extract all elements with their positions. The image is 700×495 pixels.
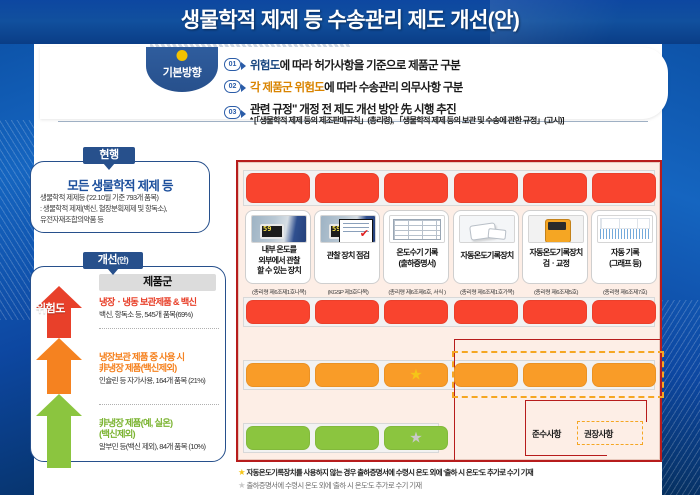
improvement-tag-label: 개선 xyxy=(98,254,117,266)
footnote-1: ★ 자동온도기록장치를 사용하지 않는 경우 출하증명서에 수령시 온도 외에 … xyxy=(238,467,533,478)
product-divider-2 xyxy=(99,404,219,405)
right-band-stripes xyxy=(662,300,700,495)
fridge-display-icon xyxy=(251,215,307,243)
device-card-4-ref: (총리령 제6조제1호가목) xyxy=(451,287,523,296)
matrix-cell-orange-4[interactable] xyxy=(454,363,518,387)
matrix-cell-green-3[interactable]: ★ xyxy=(384,426,448,450)
device-card-2-label: 관찰 장치 점검 xyxy=(317,251,379,262)
header: 생물학적 제제 등 수송관리 제도 개선(안) xyxy=(0,0,700,46)
matrix-cell-orange-2[interactable] xyxy=(315,363,379,387)
improvement-tag-sublabel: (안) xyxy=(117,256,128,265)
star-marker-gray: ★ xyxy=(409,431,422,446)
matrix-cell-red2-2[interactable] xyxy=(315,300,379,324)
bullet-highlight-02: 각 제품군 위험도 xyxy=(250,82,324,94)
device-card-1-line1: 내부 온도를 xyxy=(248,245,310,256)
device-card-5-line2: 검ㆍ교정 xyxy=(525,259,587,270)
matrix-cell-red2-5[interactable] xyxy=(523,300,587,324)
device-card-6-ref: (총리령 제6조제7호) xyxy=(589,287,661,296)
matrix-cell-green-2[interactable] xyxy=(315,426,379,450)
product-row-1-title: 냉장ㆍ냉동 보관제품 & 백신 xyxy=(99,297,196,308)
star-marker-gold: ★ xyxy=(409,368,422,383)
matrix-cell-red2-6[interactable] xyxy=(592,300,656,324)
matrix-cell-red-3[interactable] xyxy=(384,173,448,203)
inspection-doc-icon: ✔ xyxy=(320,215,376,243)
current-state-title: 모든 생물학적 제제 등 xyxy=(31,175,209,194)
legend-label-compliance: 준수사항 xyxy=(532,428,561,440)
product-row-2-title-line1: 냉장보관 제품 중 사용 시 xyxy=(99,352,184,363)
current-state-desc-1: 생물학적 제제등 ('22.10월 기준 793개 품목) xyxy=(40,193,200,204)
bullet-number-01: 01 xyxy=(224,58,241,71)
product-row-3-title-line1: 非냉장 제품(예, 실온) xyxy=(99,418,172,429)
current-state-box: 모든 생물학적 제제 등 생물학적 제제등 ('22.10월 기준 793개 품… xyxy=(30,161,210,233)
device-card-3-line1: 온도수기 기록 xyxy=(386,248,448,259)
matrix-cell-orange-3[interactable]: ★ xyxy=(384,363,448,387)
graph-chart-icon xyxy=(597,215,653,243)
device-card-1-line3: 할 수 있는 장치 xyxy=(248,266,310,277)
matrix-cell-red-2[interactable] xyxy=(315,173,379,203)
device-card-6-line1: 자동 기록 xyxy=(594,248,656,259)
risk-arrow-mid xyxy=(36,338,82,394)
footnote-2-text: 출하증명서에 수령시 온도 외에 '출하 시 온도'도 추가로 수기 기재 xyxy=(246,481,421,490)
risk-axis-label: 위험도 xyxy=(36,300,65,316)
device-card-6-line2: (그래프 등) xyxy=(594,259,656,270)
matrix-cell-red2-3[interactable] xyxy=(384,300,448,324)
bullet-subnote-03: * [「생물학적 제제 등의 제조판매규칙」(총리령), 「생물학적 제제 등의… xyxy=(250,114,564,126)
legend-label-recommended: 권장사항 xyxy=(584,428,613,440)
device-card-1[interactable]: 내부 온도를 외부에서 관찰 할 수 있는 장치 (총리령 제6조제1호나목) xyxy=(245,210,311,284)
device-card-2[interactable]: ✔ 관찰 장치 점검 (KGSP 제3호다목) xyxy=(314,210,380,284)
matrix-cell-red2-1[interactable] xyxy=(246,300,310,324)
device-card-4-line1: 자동온도기록장치 xyxy=(456,251,518,262)
left-band-stripes xyxy=(0,120,34,320)
matrix-cell-green-1[interactable] xyxy=(246,426,310,450)
matrix-cell-red-6[interactable] xyxy=(592,173,656,203)
footnote-2-star-icon: ★ xyxy=(238,480,245,490)
matrix-cell-orange-5[interactable] xyxy=(523,363,587,387)
device-card-1-ref: (총리령 제6조제1호나목) xyxy=(243,287,315,296)
device-card-3[interactable]: 온도수기 기록 (출하증명서) (총리령 제6조제6호, 서식 ) xyxy=(383,210,449,284)
footnote-2: ★ 출하증명서에 수령시 온도 외에 '출하 시 온도'도 추가로 수기 기재 xyxy=(238,480,422,491)
matrix-cell-red-1[interactable] xyxy=(246,173,310,203)
left-blue-band xyxy=(0,0,34,495)
device-card-4[interactable]: 자동온도기록장치 (총리령 제6조제1호가목) xyxy=(453,210,519,284)
device-card-3-label: 온도수기 기록 (출하증명서) xyxy=(386,248,448,269)
product-row-1-desc: 백신, 항독소 등, 545개 품목(69%) xyxy=(99,310,221,320)
device-card-2-ref: (KGSP 제3호다목) xyxy=(312,287,384,296)
footnote-1-text: 자동온도기록장치를 사용하지 않는 경우 출하증명서에 수령시 온도 외에 '출… xyxy=(246,468,533,477)
legend-compliance-top xyxy=(525,400,647,422)
bullet-highlight-01: 위험도 xyxy=(250,60,280,72)
basic-direction-label: 기본방향 xyxy=(146,64,218,80)
matrix-cell-red2-4[interactable] xyxy=(454,300,518,324)
data-logger-icon xyxy=(459,215,515,243)
check-dot-icon xyxy=(177,50,188,61)
calibration-meter-icon xyxy=(528,215,584,243)
matrix-cell-red-5[interactable] xyxy=(523,173,587,203)
bullet-rest-01: 에 따라 허가사항을 기준으로 제품군 구분 xyxy=(280,60,460,72)
bullet-text-01: 위험도에 따라 허가사항을 기준으로 제품군 구분 xyxy=(250,57,460,73)
device-card-3-ref: (총리령 제6조제6호, 서식 ) xyxy=(381,287,453,296)
form-sheet-icon xyxy=(389,215,445,243)
device-card-5-ref: (총리령 제6조제5호) xyxy=(520,287,592,296)
device-card-2-line1: 관찰 장치 점검 xyxy=(317,251,379,262)
product-row-3-desc: 알부민 등(백신 제외), 84개 품목 (10%) xyxy=(99,442,221,452)
device-card-5-label: 자동온도기록장치 검ㆍ교정 xyxy=(525,248,587,269)
bullet-number-02: 02 xyxy=(224,80,241,93)
current-state-desc-2: : 생물학적 제제(백신, 혈장분획제제 및 항독소), xyxy=(40,204,200,215)
product-row-3-title-line2: (백신제외) xyxy=(99,429,135,440)
bullet-rest-02: 에 따라 수송관리 의무사항 구분 xyxy=(324,82,462,94)
bullet-number-03: 03 xyxy=(224,106,241,119)
matrix-cell-orange-6[interactable] xyxy=(592,363,656,387)
current-state-tag: 현행 xyxy=(83,147,135,164)
current-state-tag-label: 현행 xyxy=(99,149,118,161)
device-card-5-line1: 자동온도기록장치 xyxy=(525,248,587,259)
device-card-6-label: 자동 기록 (그래프 등) xyxy=(594,248,656,269)
matrix-cell-orange-1[interactable] xyxy=(246,363,310,387)
product-divider-1 xyxy=(99,328,219,329)
matrix-cell-red-4[interactable] xyxy=(454,173,518,203)
current-state-desc-3: 유전자재조합의약품 등 xyxy=(40,215,200,226)
device-card-4-label: 자동온도기록장치 xyxy=(456,251,518,262)
bullet-text-02: 각 제품군 위험도에 따라 수송관리 의무사항 구분 xyxy=(250,79,463,95)
product-row-2-title-line2: 非냉장 제품(백신제외) xyxy=(99,363,177,374)
risk-arrow-low xyxy=(36,394,82,468)
device-card-5[interactable]: 자동온도기록장치 검ㆍ교정 (총리령 제6조제5호) xyxy=(522,210,588,284)
footnote-1-star-icon: ★ xyxy=(238,467,245,477)
device-card-1-label: 내부 온도를 외부에서 관찰 할 수 있는 장치 xyxy=(248,245,310,277)
device-card-6[interactable]: 자동 기록 (그래프 등) (총리령 제6조제7호) xyxy=(591,210,657,284)
improvement-tag: 개선(안) xyxy=(83,252,143,269)
product-row-2-desc: 인슐린 등 자가사용, 164개 품목 (21%) xyxy=(99,376,221,386)
device-card-3-line2: (출하증명서) xyxy=(386,259,448,270)
product-group-header: 제품군 xyxy=(99,274,216,291)
page-title: 생물학적 제제 등 수송관리 제도 개선(안) xyxy=(0,4,700,34)
device-card-1-line2: 외부에서 관찰 xyxy=(248,256,310,267)
